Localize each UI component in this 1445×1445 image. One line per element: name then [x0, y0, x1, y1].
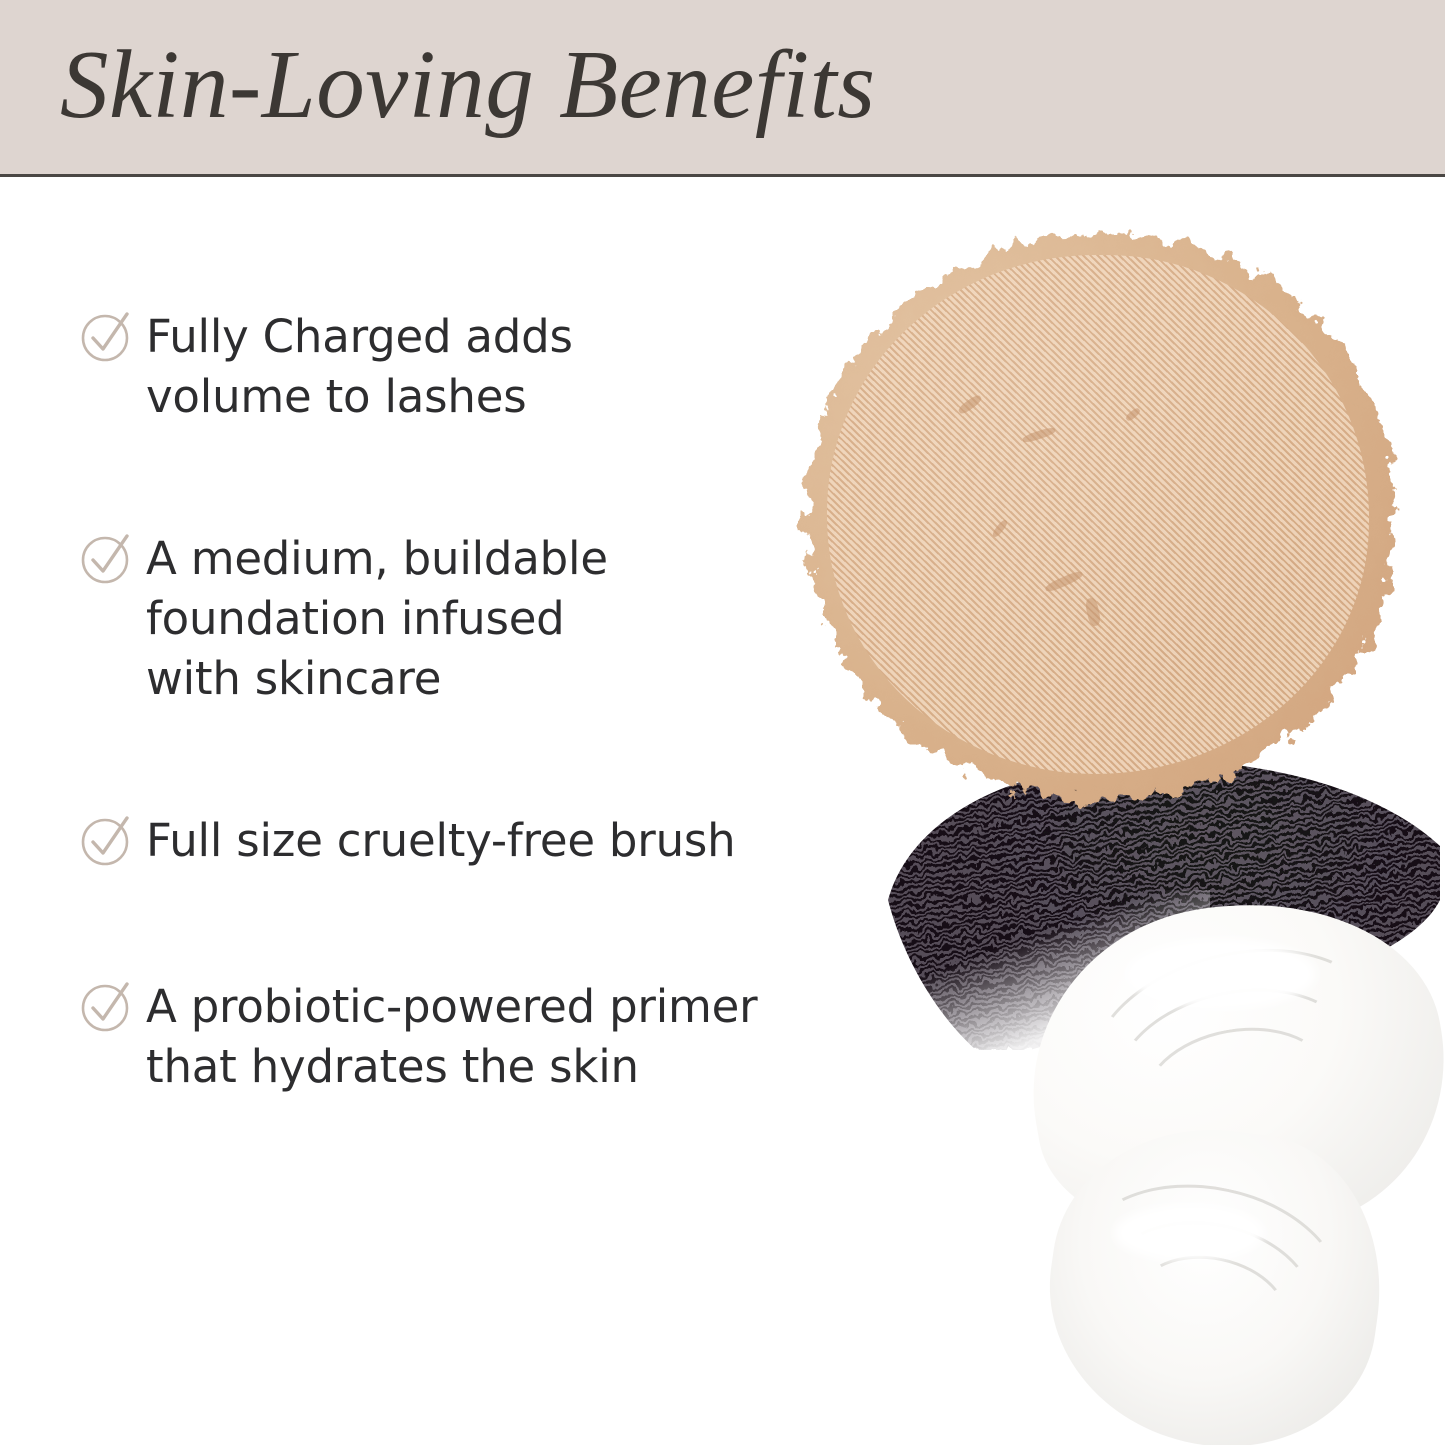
- benefit-item-label: Full size cruelty-free brush: [146, 811, 735, 871]
- powder-flake: [991, 518, 1009, 538]
- check-circle-icon: [80, 979, 134, 1033]
- powder-flake: [1125, 406, 1142, 422]
- powder-flake: [1022, 426, 1057, 444]
- check-circle-icon: [80, 309, 134, 363]
- pressed-powder-foundation-swatch: [805, 235, 1395, 800]
- cream-highlight: [1126, 939, 1316, 1009]
- benefit-item: A medium, buildable foundation infused w…: [80, 529, 608, 709]
- header-band: Skin-Loving Benefits: [0, 0, 1445, 177]
- check-circle-icon: [80, 531, 134, 585]
- powder-pressed-surface: [827, 255, 1369, 774]
- product-benefits-infographic: Skin-Loving Benefits Fully Charged adds …: [0, 0, 1445, 1445]
- benefit-item: Full size cruelty-free brush: [80, 811, 735, 871]
- powder-flake: [1084, 597, 1102, 627]
- page-title: Skin-Loving Benefits: [60, 20, 875, 150]
- benefit-item-label: A medium, buildable foundation infused w…: [146, 529, 608, 709]
- powder-flake: [957, 394, 983, 417]
- product-swatch-art: [760, 180, 1445, 1445]
- powder-flake: [1044, 569, 1084, 593]
- benefit-item-label: Fully Charged adds volume to lashes: [146, 307, 573, 427]
- benefit-item: Fully Charged adds volume to lashes: [80, 307, 573, 427]
- benefit-item: A probiotic-powered primer that hydrates…: [80, 977, 757, 1097]
- check-circle-icon: [80, 813, 134, 867]
- benefit-item-label: A probiotic-powered primer that hydrates…: [146, 977, 757, 1097]
- primer-cream-swirl-swatch: [1030, 905, 1445, 1445]
- cream-highlight: [1114, 1205, 1264, 1261]
